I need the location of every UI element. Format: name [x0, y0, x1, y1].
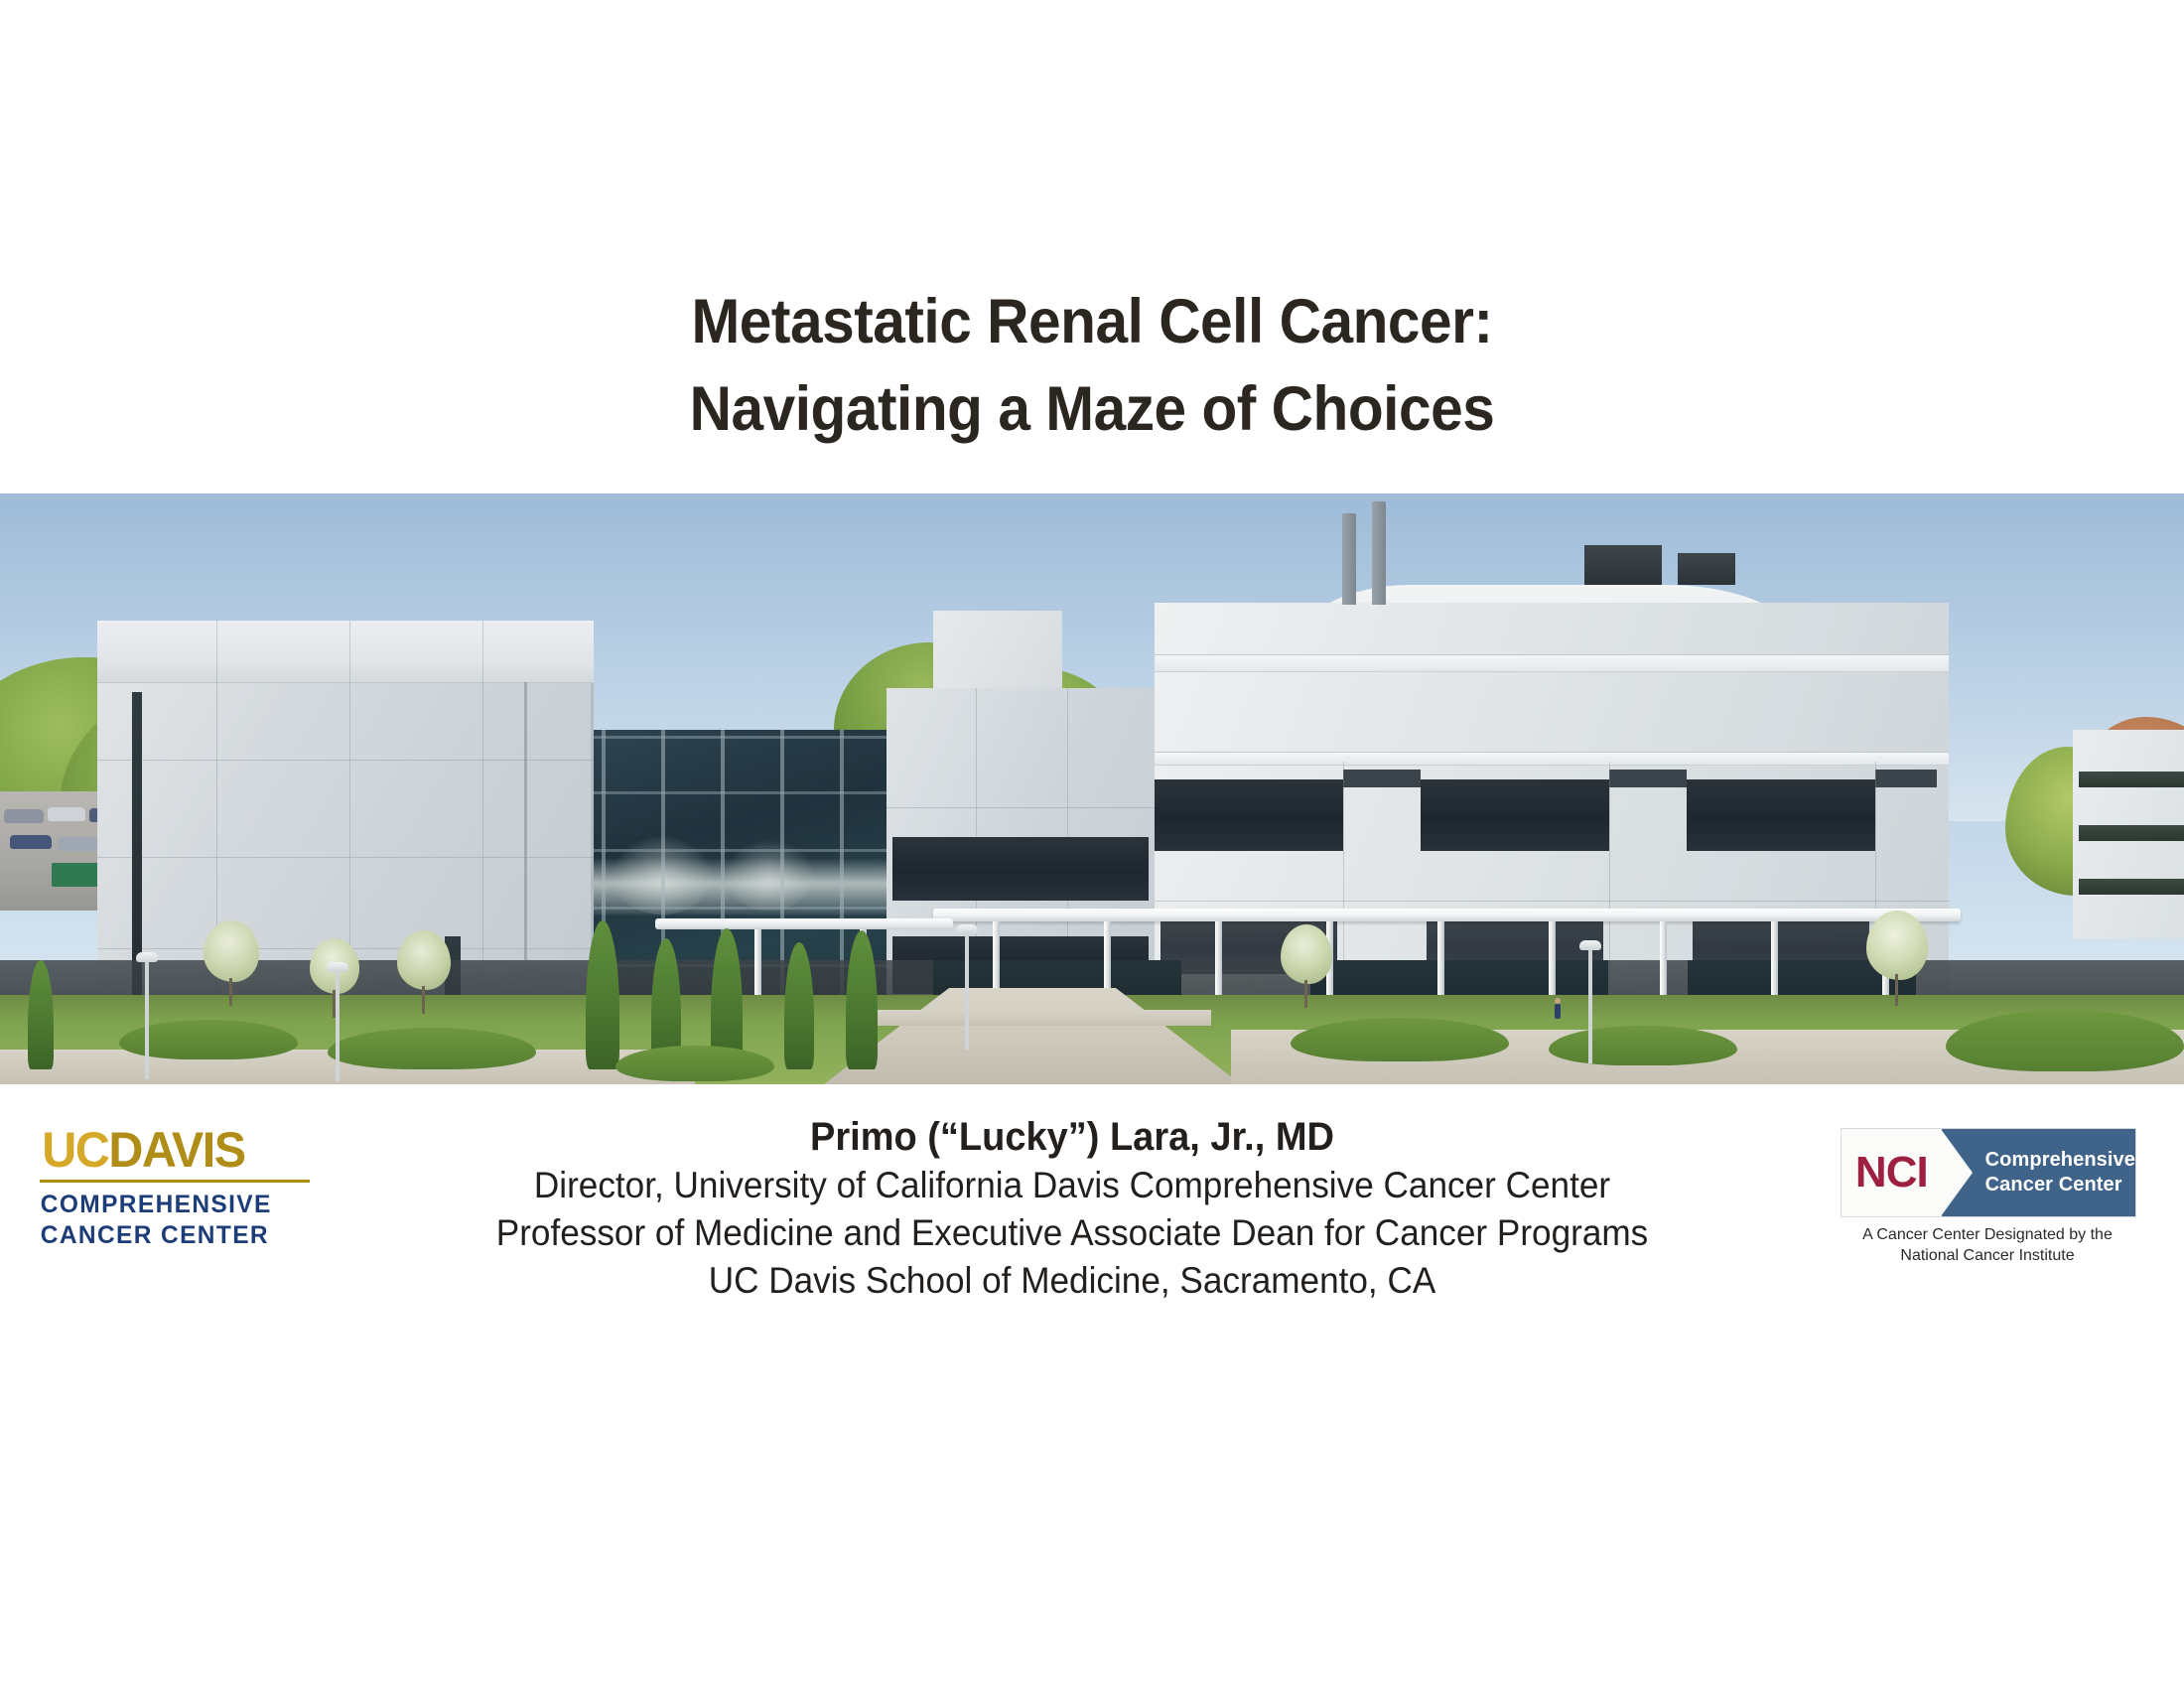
uc-davis-rule: [40, 1180, 310, 1183]
uc-davis-wordmark: UCDAVIS: [42, 1124, 312, 1176]
cancer-center-building-photo: UC DAVIS CANCER CENTER: [0, 493, 2184, 1084]
roof-equipment-2: [1678, 553, 1735, 585]
presenter-role-1: Director, University of California Davis…: [365, 1162, 1780, 1209]
shrub-bed: [1291, 1018, 1509, 1061]
uc-davis-comprehensive-cancer-center-logo: UCDAVIS COMPREHENSIVE CANCER CENTER: [38, 1124, 316, 1251]
nci-tagline-line-1: A Cancer Center Designated by the: [1841, 1224, 2134, 1245]
nci-acronym: NCI: [1855, 1151, 1928, 1195]
presenter-block: Primo (“Lucky”) Lara, Jr., MD Director, …: [328, 1112, 1817, 1305]
nci-tagline-line-2: National Cancer Institute: [1841, 1245, 2134, 1266]
entry-canopy: [933, 909, 1961, 921]
shrub-bed: [1549, 1026, 1737, 1065]
lamp-head: [136, 952, 158, 962]
lamp-head: [956, 924, 978, 934]
title-line-1: Metastatic Renal Cell Cancer:: [76, 278, 2108, 365]
nci-label-line-1: Comprehensive: [1985, 1148, 2135, 1173]
ornamental-tree: [397, 930, 451, 1014]
presentation-slide: Metastatic Renal Cell Cancer: Navigating…: [0, 0, 2184, 1688]
ornamental-tree: [204, 920, 259, 1006]
uc-davis-uc-text: UC: [42, 1122, 108, 1178]
lamp-post: [145, 958, 149, 1079]
uc-davis-sub-line-2: CANCER CENTER: [41, 1220, 313, 1251]
uc-davis-davis-text: DAVIS: [108, 1122, 244, 1178]
ornamental-tree: [1866, 911, 1928, 1006]
lamp-post: [336, 968, 340, 1081]
title-line-2: Navigating a Maze of Choices: [76, 365, 2108, 453]
nci-acronym-panel: NCI: [1842, 1129, 1942, 1216]
lamp-head: [327, 962, 348, 972]
ornamental-tree: [1281, 924, 1332, 1008]
entry-canopy-secondary: [655, 918, 953, 929]
nci-comprehensive-cancer-center-logo: NCI Comprehensive Cancer Center A Cancer…: [1841, 1128, 2148, 1266]
parapet: [97, 621, 594, 683]
lamp-head: [1579, 940, 1601, 950]
roof-stack-1: [1342, 513, 1356, 605]
slide-footer: UCDAVIS COMPREHENSIVE CANCER CENTER Prim…: [0, 1084, 2184, 1688]
ornamental-tree: [310, 938, 359, 1018]
shrub-bed: [615, 1046, 774, 1081]
person-body: [1555, 1004, 1561, 1019]
presenter-role-2: Professor of Medicine and Executive Asso…: [365, 1209, 1780, 1257]
roof-stack-2: [1372, 501, 1386, 605]
roof-equipment-1: [1584, 545, 1662, 585]
building-center-penthouse: [933, 611, 1062, 692]
lamp-post: [1588, 946, 1592, 1063]
nci-logo-bar: NCI Comprehensive Cancer Center: [1841, 1128, 2136, 1217]
slide-title: Metastatic Renal Cell Cancer: Navigating…: [0, 278, 2184, 453]
nci-tagline: A Cancer Center Designated by the Nation…: [1841, 1224, 2134, 1266]
shrub-bed: [328, 1028, 536, 1069]
background-building: [2073, 730, 2184, 938]
lamp-post: [965, 930, 969, 1050]
presenter-name: Primo (“Lucky”) Lara, Jr., MD: [365, 1112, 1780, 1162]
uc-davis-sub-line-1: COMPREHENSIVE: [41, 1190, 313, 1220]
presenter-role-3: UC Davis School of Medicine, Sacramento,…: [365, 1257, 1780, 1305]
nci-label-line-2: Cancer Center: [1985, 1173, 2135, 1197]
